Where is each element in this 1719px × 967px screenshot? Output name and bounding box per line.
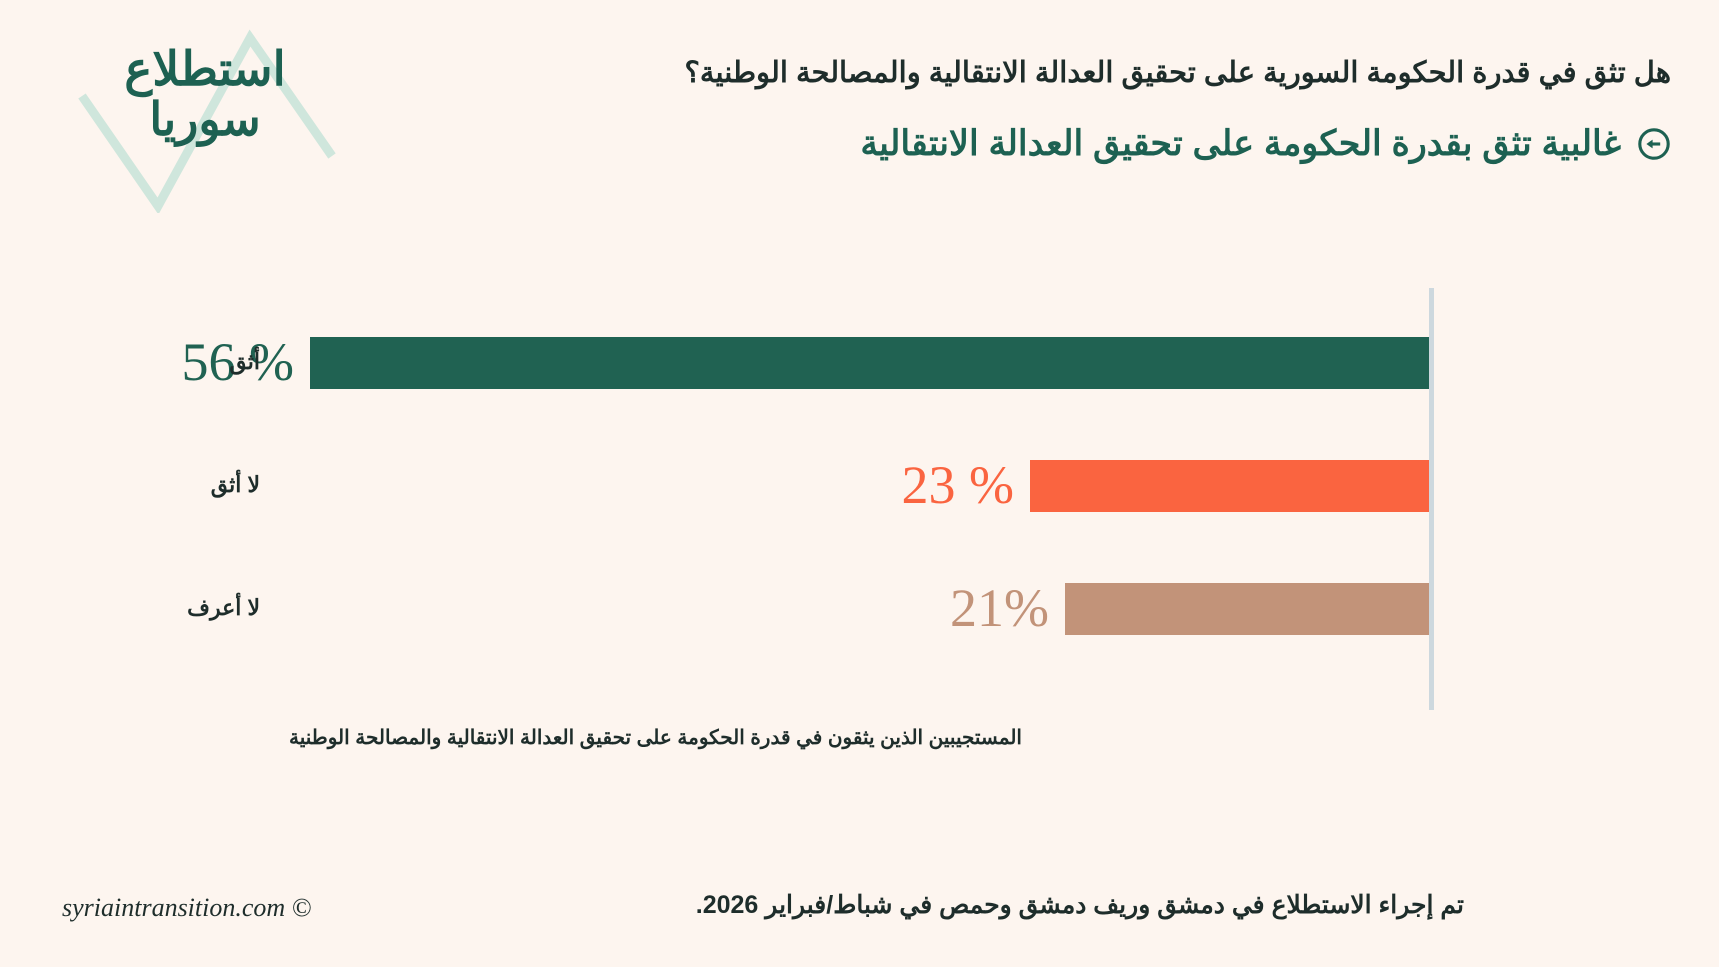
bar-value-1: 23 %	[902, 458, 1014, 512]
chart-axis-line	[1429, 288, 1434, 710]
bar-segment-0	[310, 337, 1429, 389]
bar-value-2: 21%	[950, 581, 1049, 635]
footer-website: syriaintransition.com ©	[62, 895, 311, 921]
page-title: هل تثق في قدرة الحكومة السورية على تحقيق…	[411, 55, 1671, 91]
chart-caption: المستجيبين الذين يثقون في قدرة الحكومة ع…	[289, 726, 1429, 750]
bar-category-0: أثق	[30, 351, 260, 373]
key-finding-text: غالبية تثق بقدرة الحكومة على تحقيق العدا…	[860, 122, 1621, 166]
key-finding-row: غالبية تثق بقدرة الحكومة على تحقيق العدا…	[391, 122, 1671, 166]
bar-category-2: لا أعرف	[30, 597, 260, 619]
bar-category-1: لا أثق	[30, 474, 260, 496]
circle-arrow-left-icon	[1637, 127, 1671, 161]
bar-row: 56 %	[310, 337, 1429, 389]
bar-row: 21%	[1065, 583, 1429, 635]
brand-logo-line-2: سوريا	[60, 95, 350, 145]
footer-methodology-note: تم إجراء الاستطلاع في دمشق وريف دمشق وحم…	[696, 893, 1464, 918]
brand-logo-line-1: استطلاع	[60, 44, 350, 95]
bar-segment-1	[1030, 460, 1429, 512]
infographic-canvas: استطلاع سوريا هل تثق في قدرة الحكومة الس…	[0, 0, 1719, 967]
bar-row: 23 %	[1030, 460, 1429, 512]
bar-value-0: 56 %	[182, 335, 294, 389]
bar-segment-2	[1065, 583, 1429, 635]
brand-logo-text: استطلاع سوريا	[60, 44, 350, 144]
brand-logo: استطلاع سوريا	[60, 18, 360, 213]
